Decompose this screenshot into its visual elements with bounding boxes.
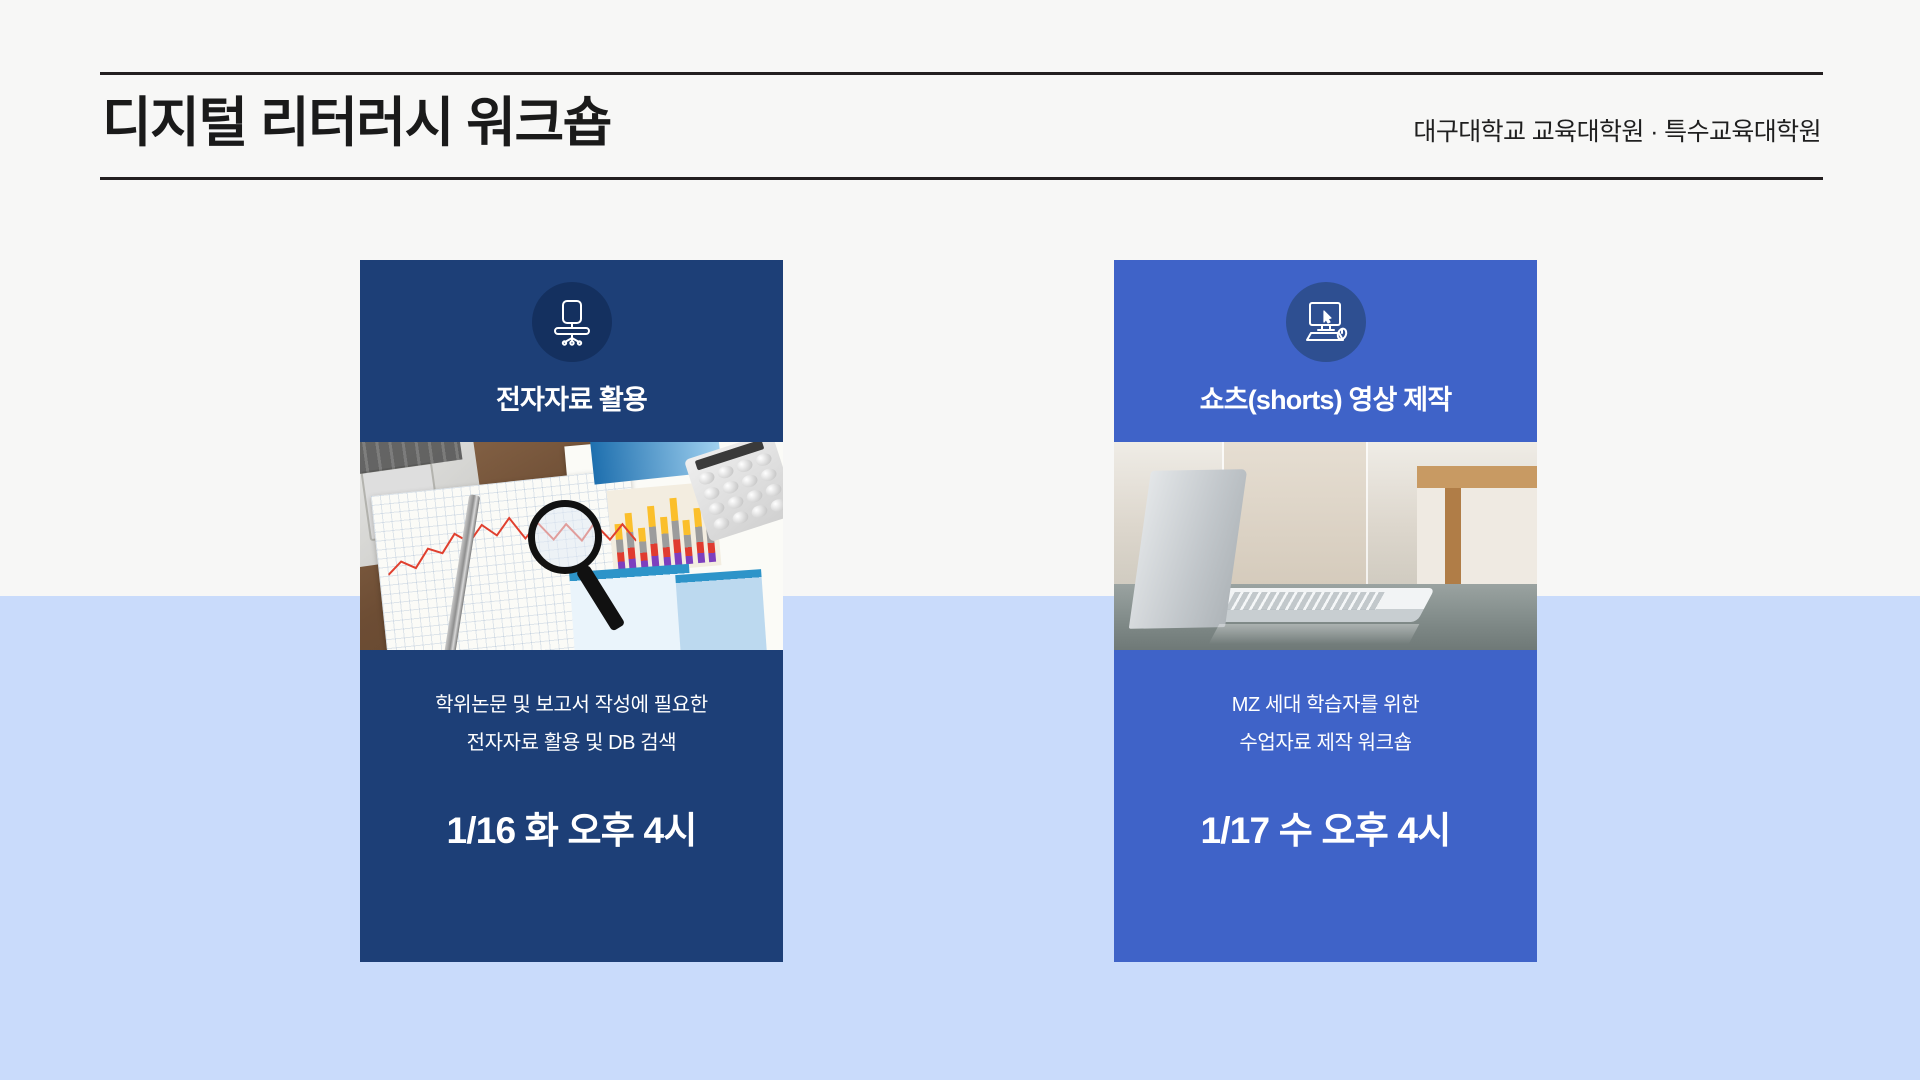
organization-label: 대구대학교 교육대학원 · 특수교육대학원 (1413, 98, 1821, 148)
card-body: 학위논문 및 보고서 작성에 필요한 전자자료 활용 및 DB 검색 1/16 … (360, 650, 783, 962)
card-description-line-2: 수업자료 제작 워크숍 (1232, 724, 1420, 762)
card-header: 쇼츠(shorts) 영상 제작 (1114, 260, 1537, 442)
workshop-card-list: 전자자료 활용 (360, 260, 1540, 962)
card-description-line-2: 전자자료 활용 및 DB 검색 (435, 724, 708, 762)
card-description-line-1: 학위논문 및 보고서 작성에 필요한 (435, 686, 708, 724)
card-date: 1/16 화 오후 4시 (447, 800, 697, 854)
page-header: 디지털 리터러시 워크숍 대구대학교 교육대학원 · 특수교육대학원 (100, 72, 1823, 180)
workshop-card-electronic-resources[interactable]: 전자자료 활용 (360, 260, 783, 962)
card-title: 전자자료 활용 (496, 384, 647, 416)
card-description: 학위논문 및 보고서 작성에 필요한 전자자료 활용 및 DB 검색 (435, 686, 708, 762)
card-description-line-1: MZ 세대 학습자를 위한 (1232, 686, 1420, 724)
desktop-computer-mouse-icon (1286, 282, 1366, 362)
card-header: 전자자료 활용 (360, 260, 783, 442)
office-chair-icon (532, 282, 612, 362)
card-description: MZ 세대 학습자를 위한 수업자료 제작 워크숍 (1232, 686, 1420, 762)
card-photo-laptop-on-desk (1114, 442, 1537, 650)
card-photo-financial-charts (360, 442, 783, 650)
card-date: 1/17 수 오후 4시 (1201, 800, 1451, 854)
card-title: 쇼츠(shorts) 영상 제작 (1200, 384, 1452, 416)
page-title: 디지털 리터러시 워크숍 (102, 96, 611, 150)
card-body: MZ 세대 학습자를 위한 수업자료 제작 워크숍 1/17 수 오후 4시 (1114, 650, 1537, 962)
workshop-card-shorts-video[interactable]: 쇼츠(shorts) 영상 제작 MZ 세대 학습자를 위한 수업자료 제작 워… (1114, 260, 1537, 962)
